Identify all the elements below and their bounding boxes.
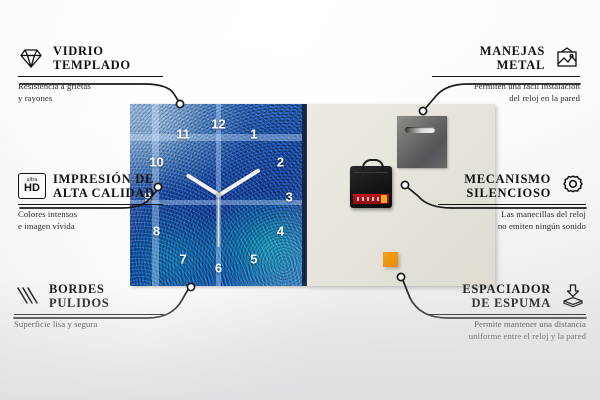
feature-rule <box>426 314 586 315</box>
feature-description: Permiten una fácil instalación del reloj… <box>432 81 580 104</box>
feature-mecanismo-silencioso: MECANISMO SILENCIOSO Las manecillas del … <box>438 172 586 232</box>
metal-hanger-plate <box>397 116 447 168</box>
wall-frame-icon <box>554 45 580 71</box>
infographic-canvas: 12 1 2 3 4 5 6 7 8 9 10 11 <box>0 0 600 400</box>
feature-manejas-metal: MANEJAS METAL Permiten una fácil instala… <box>432 44 580 104</box>
feature-title: MANEJAS METAL <box>480 44 545 72</box>
clock-numeral: 3 <box>286 190 293 203</box>
clock-numeral: 1 <box>250 128 257 141</box>
feature-bordes-pulidos: BORDES PULIDOS Superficie lisa y segura <box>14 282 164 331</box>
feature-title: BORDES PULIDOS <box>49 282 109 310</box>
feature-rule <box>438 204 586 205</box>
feature-description: Las manecillas del reloj no emiten ningú… <box>438 209 586 232</box>
battery-label <box>353 194 389 204</box>
orange-foam-spacer <box>383 252 398 267</box>
feature-rule <box>18 204 163 205</box>
clock-numeral: 7 <box>179 252 186 265</box>
feature-description: Resistencia a grietas y rayones <box>18 81 163 104</box>
feature-description: Superficie lisa y segura <box>14 319 164 330</box>
ultra-hd-icon: ultra HD <box>18 173 44 199</box>
polished-edges-icon <box>14 283 40 309</box>
clock-numeral: 11 <box>176 128 190 141</box>
gear-icon <box>560 173 586 199</box>
clock-numeral: 5 <box>250 252 257 265</box>
feature-espaciador-espuma: ESPACIADOR DE ESPUMA Permite mantener un… <box>426 282 586 342</box>
hanger-keyhole-slot <box>405 127 435 133</box>
feature-description: Permite mantener una distancia uniforme … <box>426 319 586 342</box>
foam-spacer-icon <box>560 283 586 309</box>
clock-numeral: 10 <box>149 156 163 169</box>
feature-rule <box>18 76 163 77</box>
hanger-loop-icon <box>362 159 384 170</box>
feature-title: MECANISMO SILENCIOSO <box>464 172 551 200</box>
clock-numeral: 4 <box>277 225 284 238</box>
clock-second-hand <box>218 195 220 247</box>
feature-rule <box>14 314 164 315</box>
feature-title: VIDRIO TEMPLADO <box>53 44 131 72</box>
feature-description: Colores intensos e imagen vívida <box>18 209 163 232</box>
feature-impresion-alta-calidad: ultra HD IMPRESIÓN DE ALTA CALIDAD Color… <box>18 172 163 232</box>
mechanism-seam <box>354 172 388 173</box>
diamond-icon <box>18 45 44 71</box>
feature-vidrio-templado: VIDRIO TEMPLADO Resistencia a grietas y … <box>18 44 163 104</box>
clock-numeral: 12 <box>211 118 225 131</box>
feature-rule <box>432 76 580 77</box>
clock-center-hub <box>216 193 221 198</box>
feature-title: IMPRESIÓN DE ALTA CALIDAD <box>53 172 155 200</box>
clock-mechanism-box <box>350 166 392 208</box>
clock-numeral: 2 <box>277 156 284 169</box>
feature-title: ESPACIADOR DE ESPUMA <box>462 282 551 310</box>
clock-numeral: 6 <box>215 261 222 274</box>
